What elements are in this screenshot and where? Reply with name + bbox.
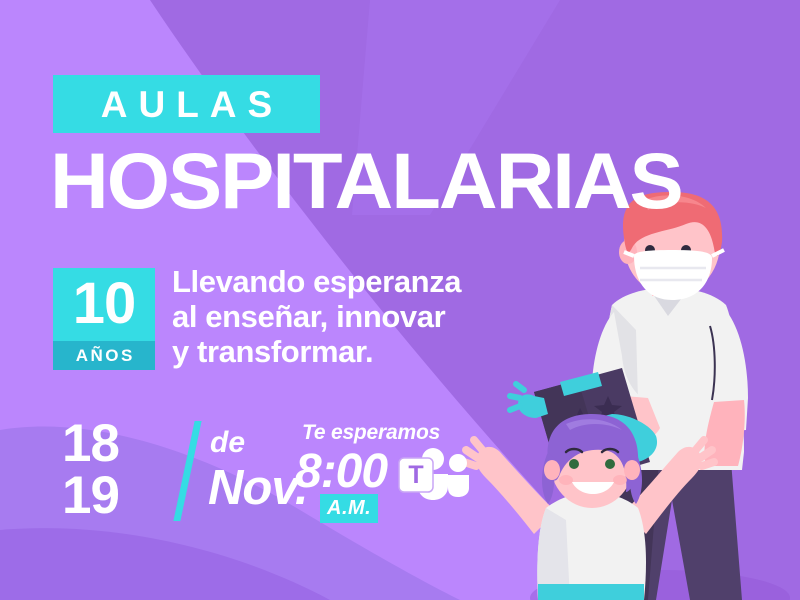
aulas-banner: AULAS [53, 75, 320, 133]
date-slash-divider [173, 421, 201, 521]
microsoft-teams-icon: T [398, 446, 473, 501]
tagline: Llevando esperanza al enseñar, innovar y… [172, 264, 572, 369]
tagline-line-2: al enseñar, innovar [172, 299, 572, 334]
event-days: 18 19 [62, 418, 119, 522]
teams-icon-person-small [449, 454, 467, 472]
child-eye-left [569, 459, 579, 469]
child-waistband [538, 584, 644, 600]
child-ear-left [544, 460, 560, 480]
teams-icon-body-small [448, 475, 469, 497]
page-title: HOSPITALARIAS [50, 142, 682, 220]
event-day-second: 19 [62, 470, 119, 522]
event-date: 18 19 de Nov. [58, 418, 288, 523]
anniversary-number: 10 [53, 268, 155, 341]
aulas-label: AULAS [90, 86, 283, 123]
nurse-glove-fingers-left [510, 384, 524, 410]
child-eye-right [605, 459, 615, 469]
anniversary-badge: 10 AÑOS [53, 268, 155, 370]
child-cheek-left [559, 475, 573, 485]
child-ear-right [624, 460, 640, 480]
poster-canvas: AULAS HOSPITALARIAS 10 AÑOS Llevando esp… [0, 0, 800, 600]
tagline-line-1: Llevando esperanza [172, 264, 572, 299]
tagline-line-3: y transformar. [172, 334, 572, 369]
event-month: Nov. [208, 464, 307, 513]
teams-icon-letter: T [408, 461, 423, 489]
event-hour: 8:00 [295, 448, 387, 496]
date-preposition: de [210, 428, 245, 458]
event-time: Te esperamos 8:00 A.M. T [295, 422, 475, 522]
anniversary-word: AÑOS [53, 341, 155, 370]
invite-text: Te esperamos [302, 422, 440, 443]
event-day-first: 18 [62, 418, 119, 470]
child-cheek-right [613, 475, 627, 485]
event-meridiem: A.M. [320, 494, 378, 523]
